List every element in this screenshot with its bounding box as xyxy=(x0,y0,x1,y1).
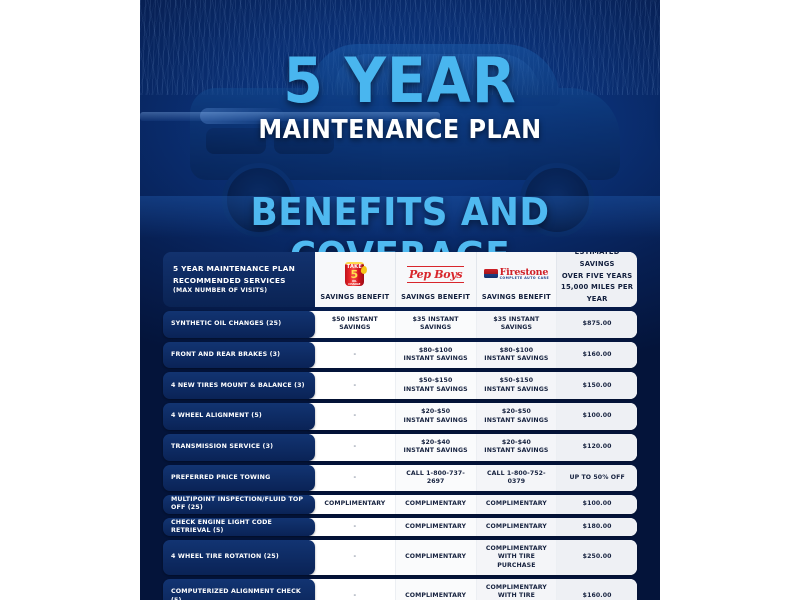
header-line-3: (MAX NUMBER OF VISITS) xyxy=(173,286,295,296)
poster-panel: 5 YEAR MAINTENANCE PLAN BENEFITS AND COV… xyxy=(140,0,660,600)
table-row-service-label: 4 WHEEL TIRE ROTATION (25) xyxy=(171,553,279,561)
estimated-line-3: 15,000 MILES PER YEAR xyxy=(557,282,637,306)
table-cell-estimated: $120.00 xyxy=(557,434,637,461)
pep-boys-logo-word: Pep Boys xyxy=(407,266,464,283)
table-cell-estimated: $875.00 xyxy=(557,311,637,338)
oil-drop-icon xyxy=(360,265,368,274)
firestone-savings-benefit-label: SAVINGS BENEFIT xyxy=(482,293,551,301)
table-cell-estimated: $250.00 xyxy=(557,540,637,575)
table-row-service-cell: MULTIPOINT INSPECTION/FLUID TOP OFF (25) xyxy=(163,495,315,513)
table-row-service-cell: FRONT AND REAR BRAKES (3) xyxy=(163,342,315,369)
table-row-service-label: COMPUTERIZED ALIGNMENT CHECK (5) xyxy=(171,588,307,600)
table-cell-take5: - xyxy=(315,434,396,461)
firestone-logo: Firestone COMPLETE AUTO CARE xyxy=(484,259,550,289)
table-cell-estimated: $100.00 xyxy=(557,495,637,513)
pepboys-savings-benefit-label: SAVINGS BENEFIT xyxy=(401,293,470,301)
firestone-mark-icon xyxy=(484,269,498,278)
table-row: COMPUTERIZED ALIGNMENT CHECK (5)-COMPLIM… xyxy=(163,579,637,600)
table-cell-firestone: COMPLIMENTARY xyxy=(477,518,558,536)
table-cell-pepboys: $20-$50INSTANT SAVINGS xyxy=(396,403,477,430)
table-cell-estimated: $100.00 xyxy=(557,403,637,430)
poster-page: 5 YEAR MAINTENANCE PLAN BENEFITS AND COV… xyxy=(0,0,800,600)
table-cell-firestone: $80-$100INSTANT SAVINGS xyxy=(477,342,558,369)
table-cell-firestone: COMPLIMENTARYWITH TIRE PURCHASE xyxy=(477,579,558,600)
table-header-firestone: Firestone COMPLETE AUTO CARE SAVINGS BEN… xyxy=(477,252,558,307)
table-row: PREFERRED PRICE TOWING-CALL 1-800-737-26… xyxy=(163,465,637,492)
table-row-service-cell: SYNTHETIC OIL CHANGES (25) xyxy=(163,311,315,338)
estimated-line-2: OVER FIVE YEARS xyxy=(557,271,637,283)
table-header-services-text: 5 YEAR MAINTENANCE PLAN RECOMMENDED SERV… xyxy=(173,263,295,296)
table-row: 4 NEW TIRES MOUNT & BALANCE (3)-$50-$150… xyxy=(163,372,637,399)
table-row-service-label: 4 NEW TIRES MOUNT & BALANCE (3) xyxy=(171,382,305,390)
table-cell-firestone: $20-$40INSTANT SAVINGS xyxy=(477,434,558,461)
table-cell-estimated: $180.00 xyxy=(557,518,637,536)
table-cell-firestone: $20-$50INSTANT SAVINGS xyxy=(477,403,558,430)
table-row-values: -COMPLIMENTARYCOMPLIMENTARYWITH TIRE PUR… xyxy=(309,540,637,575)
table-row: CHECK ENGINE LIGHT CODE RETRIEVAL (5)-CO… xyxy=(163,518,637,536)
table-cell-firestone: COMPLIMENTARY xyxy=(477,495,558,513)
table-cell-firestone: $50-$150INSTANT SAVINGS xyxy=(477,372,558,399)
firestone-logo-subword: COMPLETE AUTO CARE xyxy=(500,277,550,280)
table-row-service-cell: COMPUTERIZED ALIGNMENT CHECK (5) xyxy=(163,579,315,600)
table-cell-take5: $50 INSTANT SAVINGS xyxy=(315,311,396,338)
table-cell-firestone: COMPLIMENTARYWITH TIRE PURCHASE xyxy=(477,540,558,575)
table-cell-pepboys: COMPLIMENTARY xyxy=(396,579,477,600)
table-row-values: -$50-$150INSTANT SAVINGS$50-$150INSTANT … xyxy=(309,372,637,399)
table-header-brand-cells: TAKE 5 OIL CHANGE SAVINGS BENEFIT Pep Bo… xyxy=(315,252,637,307)
table-header-estimated-savings: ESTIMATED SAVINGS OVER FIVE YEARS 15,000… xyxy=(557,252,637,307)
table-row-service-cell: 4 WHEEL ALIGNMENT (5) xyxy=(163,403,315,430)
table-cell-pepboys: COMPLIMENTARY xyxy=(396,495,477,513)
table-cell-firestone: CALL 1-800-752-0379 xyxy=(477,465,558,492)
table-row-values: -$20-$40INSTANT SAVINGS$20-$40INSTANT SA… xyxy=(309,434,637,461)
table-row: 4 WHEEL ALIGNMENT (5)-$20-$50INSTANT SAV… xyxy=(163,403,637,430)
benefits-table: 5 YEAR MAINTENANCE PLAN RECOMMENDED SERV… xyxy=(163,252,637,600)
table-header-services-cell: 5 YEAR MAINTENANCE PLAN RECOMMENDED SERV… xyxy=(163,252,315,307)
table-row-values: -COMPLIMENTARYCOMPLIMENTARY$180.00 xyxy=(309,518,637,536)
table-cell-take5: - xyxy=(315,540,396,575)
table-row-values: -COMPLIMENTARYCOMPLIMENTARYWITH TIRE PUR… xyxy=(309,579,637,600)
table-cell-estimated: UP TO 50% OFF xyxy=(557,465,637,492)
table-cell-take5: - xyxy=(315,579,396,600)
table-row-service-cell: TRANSMISSION SERVICE (3) xyxy=(163,434,315,461)
poster-title-sub: MAINTENANCE PLAN xyxy=(161,115,639,145)
take5-savings-benefit-label: SAVINGS BENEFIT xyxy=(320,293,389,301)
table-row: MULTIPOINT INSPECTION/FLUID TOP OFF (25)… xyxy=(163,495,637,513)
table-row-service-cell: 4 WHEEL TIRE ROTATION (25) xyxy=(163,540,315,575)
table-row-service-label: FRONT AND REAR BRAKES (3) xyxy=(171,351,280,359)
table-row: TRANSMISSION SERVICE (3)-$20-$40INSTANT … xyxy=(163,434,637,461)
table-row-service-label: MULTIPOINT INSPECTION/FLUID TOP OFF (25) xyxy=(171,496,307,512)
table-row: SYNTHETIC OIL CHANGES (25)$50 INSTANT SA… xyxy=(163,311,637,338)
header-line-2: RECOMMENDED SERVICES xyxy=(173,275,295,286)
table-row-service-label: CHECK ENGINE LIGHT CODE RETRIEVAL (5) xyxy=(171,519,307,535)
table-cell-take5: - xyxy=(315,372,396,399)
table-header-pepboys: Pep Boys SAVINGS BENEFIT xyxy=(396,252,477,307)
table-cell-take5: COMPLIMENTARY xyxy=(315,495,396,513)
table-cell-pepboys: COMPLIMENTARY xyxy=(396,540,477,575)
table-cell-pepboys: CALL 1-800-737-2697 xyxy=(396,465,477,492)
table-row-service-cell: CHECK ENGINE LIGHT CODE RETRIEVAL (5) xyxy=(163,518,315,536)
poster-title-main: 5 YEAR xyxy=(161,52,639,109)
table-cell-pepboys: $80-$100INSTANT SAVINGS xyxy=(396,342,477,369)
table-row-service-label: PREFERRED PRICE TOWING xyxy=(171,474,270,482)
table-cell-estimated: $160.00 xyxy=(557,342,637,369)
table-cell-pepboys: COMPLIMENTARY xyxy=(396,518,477,536)
table-header-row: 5 YEAR MAINTENANCE PLAN RECOMMENDED SERV… xyxy=(163,252,637,307)
table-row-values: COMPLIMENTARYCOMPLIMENTARYCOMPLIMENTARY$… xyxy=(309,495,637,513)
table-row-values: $50 INSTANT SAVINGS$35 INSTANT SAVINGS$3… xyxy=(309,311,637,338)
table-row-service-label: 4 WHEEL ALIGNMENT (5) xyxy=(171,412,262,420)
table-body: SYNTHETIC OIL CHANGES (25)$50 INSTANT SA… xyxy=(163,311,637,600)
header-line-1: 5 YEAR MAINTENANCE PLAN xyxy=(173,263,295,274)
table-row-values: -CALL 1-800-737-2697CALL 1-800-752-0379U… xyxy=(309,465,637,492)
poster-title-block: 5 YEAR MAINTENANCE PLAN xyxy=(140,52,660,145)
table-row: 4 WHEEL TIRE ROTATION (25)-COMPLIMENTARY… xyxy=(163,540,637,575)
table-cell-take5: - xyxy=(315,342,396,369)
table-row-values: -$20-$50INSTANT SAVINGS$20-$50INSTANT SA… xyxy=(309,403,637,430)
table-row-service-cell: PREFERRED PRICE TOWING xyxy=(163,465,315,492)
take-5-oil-change-logo: TAKE 5 OIL CHANGE xyxy=(342,259,368,289)
table-cell-firestone: $35 INSTANT SAVINGS xyxy=(477,311,558,338)
table-cell-take5: - xyxy=(315,403,396,430)
estimated-line-1: ESTIMATED SAVINGS xyxy=(557,252,637,271)
table-header-take5: TAKE 5 OIL CHANGE SAVINGS BENEFIT xyxy=(315,252,396,307)
table-cell-pepboys: $35 INSTANT SAVINGS xyxy=(396,311,477,338)
table-row-service-label: TRANSMISSION SERVICE (3) xyxy=(171,443,273,451)
table-cell-pepboys: $20-$40INSTANT SAVINGS xyxy=(396,434,477,461)
estimated-savings-heading: ESTIMATED SAVINGS OVER FIVE YEARS 15,000… xyxy=(557,252,637,306)
table-row-service-label: SYNTHETIC OIL CHANGES (25) xyxy=(171,320,281,328)
table-cell-pepboys: $50-$150INSTANT SAVINGS xyxy=(396,372,477,399)
pep-boys-logo: Pep Boys xyxy=(407,259,464,289)
table-row: FRONT AND REAR BRAKES (3)-$80-$100INSTAN… xyxy=(163,342,637,369)
table-cell-take5: - xyxy=(315,465,396,492)
table-row-service-cell: 4 NEW TIRES MOUNT & BALANCE (3) xyxy=(163,372,315,399)
table-cell-estimated: $150.00 xyxy=(557,372,637,399)
table-cell-take5: - xyxy=(315,518,396,536)
table-cell-estimated: $160.00 xyxy=(557,579,637,600)
take5-logo-word-bottom: OIL CHANGE xyxy=(346,280,363,286)
table-row-values: -$80-$100INSTANT SAVINGS$80-$100INSTANT … xyxy=(309,342,637,369)
